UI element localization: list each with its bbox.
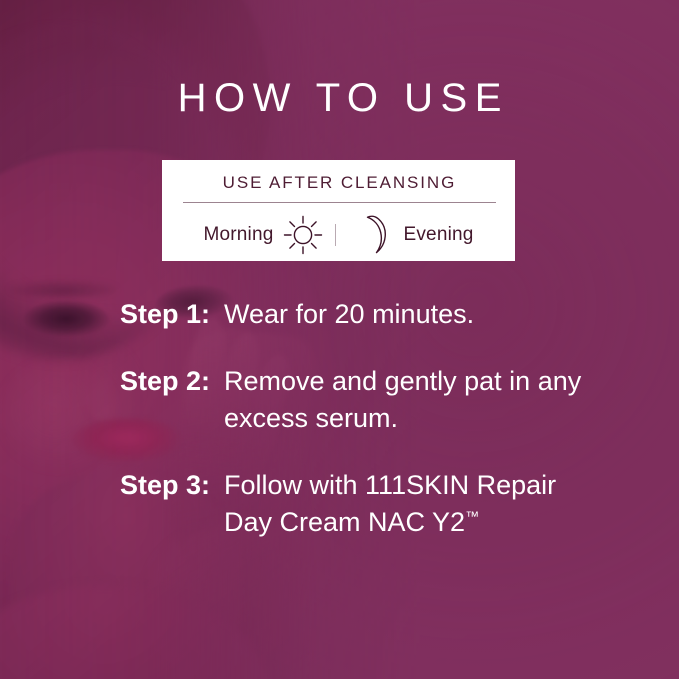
step-1-label: Step 1:	[0, 296, 210, 333]
step-2-text: Remove and gently pat in any excess seru…	[224, 363, 604, 437]
card-divider	[183, 202, 496, 203]
step-2-label: Step 2:	[0, 363, 210, 400]
crescent-moon-icon	[343, 214, 403, 256]
card-title: USE AFTER CLEANSING	[162, 173, 515, 193]
step-3-text-main: Follow with 111SKIN Repair Day Cream NAC…	[224, 470, 556, 537]
trademark-symbol: ™	[465, 508, 479, 524]
card-period-row: Morning	[162, 215, 515, 255]
morning-label: Morning	[203, 224, 273, 246]
step-item-1: Step 1: Wear for 20 minutes.	[0, 296, 679, 333]
steps-list: Step 1: Wear for 20 minutes. Step 2: Rem…	[0, 296, 679, 541]
step-3-label: Step 3:	[0, 467, 210, 504]
usage-card: USE AFTER CLEANSING Morning	[162, 160, 515, 261]
page-title: HOW TO USE	[0, 76, 679, 120]
how-to-use-panel: HOW TO USE USE AFTER CLEANSING Morning	[0, 0, 679, 679]
step-item-3: Step 3: Follow with 111SKIN Repair Day C…	[0, 467, 679, 541]
step-item-2: Step 2: Remove and gently pat in any exc…	[0, 363, 679, 437]
evening-label: Evening	[403, 224, 473, 246]
step-3-text: Follow with 111SKIN Repair Day Cream NAC…	[224, 467, 604, 541]
step-1-text: Wear for 20 minutes.	[224, 296, 474, 333]
sun-icon	[273, 214, 333, 256]
period-separator	[335, 224, 336, 246]
